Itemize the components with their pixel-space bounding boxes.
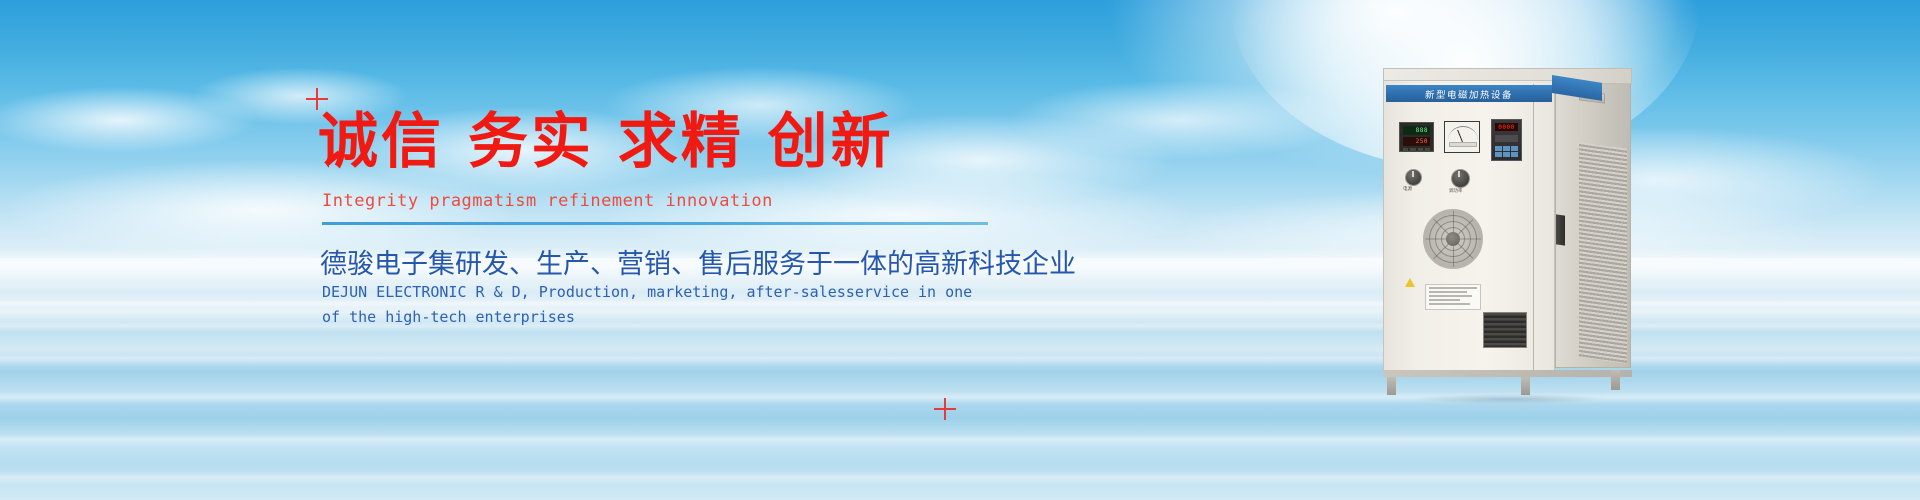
machine-leg-right (1611, 370, 1620, 390)
banner-subheadline-en: DEJUN ELECTRONIC R & D, Production, mark… (322, 280, 1002, 330)
machine-brand-label: 新型电磁加热设备 (1386, 85, 1552, 102)
machine-analog-meter (1444, 121, 1480, 153)
digital-button-3[interactable] (1418, 148, 1423, 152)
digital-button-4[interactable] (1425, 148, 1430, 152)
machine-brand-label-text: 新型电磁加热设备 (1424, 87, 1513, 101)
digital-display-pv: 888 (1403, 126, 1430, 135)
keypad-brand-strip (1495, 135, 1518, 142)
spec-plate-line (1429, 287, 1477, 289)
machine-power-knob[interactable] (1405, 169, 1422, 186)
digital-display-pv-value: 888 (1416, 127, 1428, 134)
digital-button-1[interactable] (1403, 148, 1408, 152)
keypad-button-2[interactable] (1503, 146, 1510, 151)
keypad-led-display: 0000 (1495, 123, 1518, 131)
machine-leg-center (1521, 377, 1530, 395)
promo-banner: 诚信 务实 求精 创新 Integrity pragmatism refinem… (0, 0, 1920, 500)
digital-button-2[interactable] (1410, 148, 1415, 152)
analog-meter-label-band (1449, 142, 1477, 147)
machine-door-seam (1533, 84, 1534, 370)
keypad-button-3[interactable] (1511, 146, 1518, 151)
machine-power-adjust-knob[interactable] (1451, 169, 1470, 188)
machine-power-adjust-knob-label: 调功率 (1449, 188, 1463, 194)
machine-leg-left (1387, 377, 1396, 395)
machine-ground-shadow (1375, 392, 1643, 406)
machine-lower-vent (1483, 312, 1527, 348)
keypad-button-1[interactable] (1495, 146, 1502, 151)
digital-display-sv: 250 (1403, 137, 1430, 146)
machine-ventilation-louvers (1579, 142, 1627, 364)
digital-controller-buttons[interactable] (1403, 148, 1430, 152)
machine-power-knob-label: 电源 (1403, 186, 1412, 192)
keypad-button-4[interactable] (1495, 152, 1502, 157)
machine-door-latch (1556, 214, 1565, 245)
machine-digital-controller[interactable]: 888 250 (1399, 122, 1434, 152)
keypad-button-5[interactable] (1503, 152, 1510, 157)
keypad-led-value: 0000 (1498, 124, 1514, 131)
machine-spec-plate (1425, 284, 1481, 310)
digital-display-sv-value: 250 (1416, 138, 1428, 145)
banner-subheadline-cn: 德骏电子集研发、生产、营销、售后服务于一体的高新科技企业 (320, 242, 1076, 281)
machine-fan-grille (1423, 209, 1483, 269)
keypad-button-grid[interactable] (1495, 146, 1518, 157)
machine-keypad-controller[interactable]: 0000 (1491, 119, 1522, 161)
fan-hub (1446, 232, 1460, 246)
divider-line (322, 222, 988, 225)
banner-headline-cn: 诚信 务实 求精 创新 (318, 112, 894, 172)
spec-plate-line (1429, 291, 1467, 293)
plus-decoration-icon-secondary (934, 398, 956, 420)
analog-meter-scale (1448, 126, 1478, 140)
product-machine-image: 新型电磁加热设备 888 250 0000 (1383, 62, 1653, 392)
spec-plate-line (1429, 295, 1472, 297)
banner-headline-en: Integrity pragmatism refinement innovati… (322, 191, 773, 211)
subheadline-en-line-1: DEJUN ELECTRONIC R & D, Production, mark… (322, 280, 1002, 305)
spec-plate-line (1429, 299, 1460, 301)
spec-plate-line (1429, 303, 1470, 305)
subheadline-en-line-2: of the high-tech enterprises (322, 305, 1002, 330)
keypad-button-6[interactable] (1511, 152, 1518, 157)
machine-base (1383, 370, 1632, 377)
